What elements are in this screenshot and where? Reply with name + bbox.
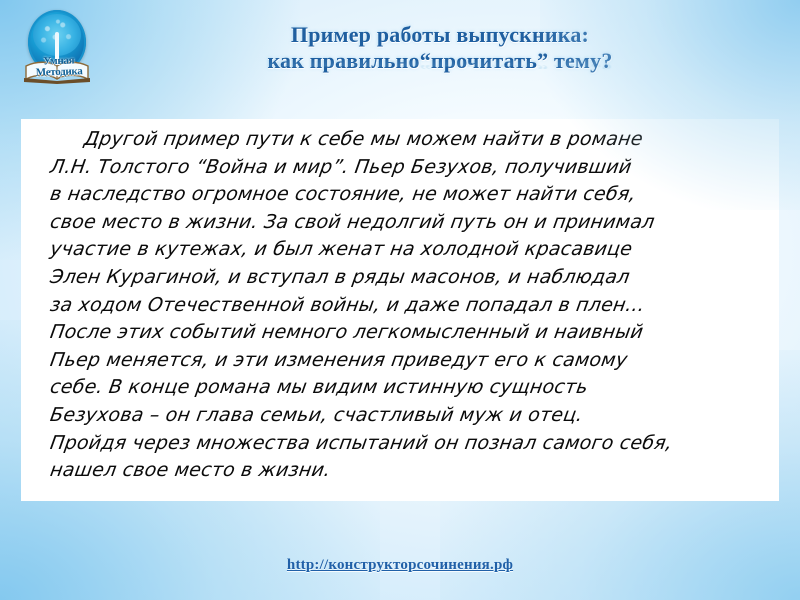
handwritten-line: участие в кутежах, и был женат на холодн…: [48, 236, 768, 264]
handwritten-line: Другой пример пути к себе мы можем найти…: [48, 126, 768, 154]
handwritten-line: за ходом Отечественной войны, и даже поп…: [48, 292, 768, 320]
handwritten-line: Пройдя через множества испытаний он позн…: [48, 430, 768, 458]
handwritten-line: Пьер меняется, и эти изменения приведут …: [48, 347, 768, 375]
slide-title: Пример работы выпускника: как правильно“…: [120, 22, 760, 98]
logo-wordmark: Умная Методика: [24, 55, 95, 79]
handwritten-line: нашел свое место в жизни.: [48, 457, 768, 485]
brand-logo: Умная Методика: [16, 6, 100, 92]
title-line-2: как правильно“прочитать” тему?: [120, 48, 760, 74]
handwritten-line: в наследство огромное состояние, не може…: [48, 181, 768, 209]
slide-canvas: Умная Методика Пример работы выпускника:…: [0, 0, 800, 600]
handwritten-line: Л.Н. Толстого “Война и мир”. Пьер Безухо…: [48, 154, 768, 182]
website-link[interactable]: http://конструкторсочинения.рф: [287, 557, 513, 573]
handwritten-essay: Другой пример пути к себе мы можем найти…: [48, 126, 764, 485]
handwritten-line: себе. В конце романа мы видим истинную с…: [48, 374, 768, 402]
handwriting-sheet: Другой пример пути к себе мы можем найти…: [22, 120, 778, 500]
title-line-1: Пример работы выпускника:: [120, 22, 760, 48]
footer-link-container: http://конструкторсочинения.рф: [0, 556, 800, 574]
handwritten-line: После этих событий немного легкомысленны…: [48, 319, 768, 347]
handwritten-line: Безухова – он глава семьи, счастливый му…: [48, 402, 768, 430]
handwritten-line: свое место в жизни. За свой недолгий пут…: [48, 209, 768, 237]
handwritten-line: Элен Курагиной, и вступал в ряды масонов…: [48, 264, 768, 292]
